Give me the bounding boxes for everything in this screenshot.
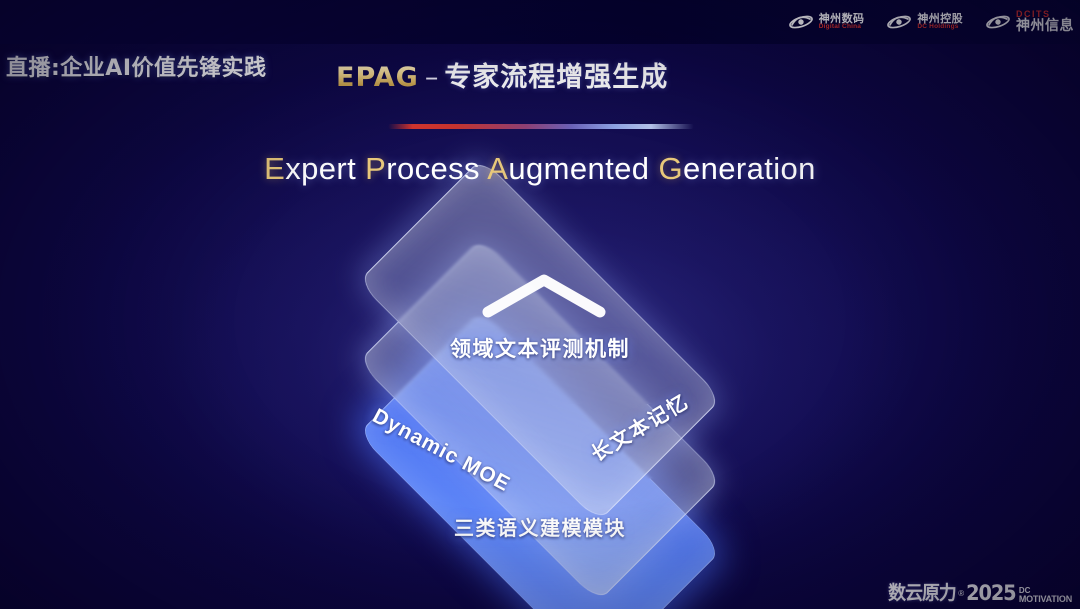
partner-logo-dc-holdings: 神州控股 DC Holdings — [886, 10, 963, 34]
partner-logo-group: 神州数码 Digital China 神州控股 DC Holdings — [788, 5, 1074, 39]
watermark-name-cn: 数云原力 — [888, 578, 956, 605]
partner-name-en: DC Holdings — [917, 24, 963, 31]
watermark-registered-mark: ® — [958, 589, 964, 598]
partner-logo-text: 神州数码 Digital China — [819, 13, 865, 31]
partner-name-en: Digital China — [819, 24, 865, 31]
swirl-icon — [788, 10, 814, 34]
stack-label-bottom: 三类语义建模模块 — [0, 512, 1080, 541]
subtitle-part: rocess — [386, 151, 487, 186]
partner-logo-digital-china: 神州数码 Digital China — [788, 10, 865, 34]
headline-cn: 专家流程增强生成 — [444, 62, 668, 93]
slide-headline: EPAG–专家流程增强生成 — [336, 55, 668, 94]
subtitle-part: P — [365, 151, 386, 186]
chevron-up-icon — [480, 272, 608, 318]
watermark-dc-line2: MOTIVATION — [1019, 595, 1072, 603]
watermark-dc-motivation: DC MOTIVATION — [1019, 587, 1072, 603]
gradient-divider — [388, 124, 694, 129]
partner-name-cn: 神州信息 — [1016, 19, 1074, 33]
subtitle-part: A — [487, 151, 508, 186]
partner-logo-dcits: DCITS 神州信息 — [985, 10, 1074, 34]
subtitle-part: E — [264, 151, 285, 186]
subtitle-part: xpert — [285, 151, 365, 186]
slide-stage: 数云原力®2025 DC MOTIVATION 直播:企业AI价值先锋实践 神州… — [0, 0, 1080, 609]
watermark-year: 2025 — [966, 581, 1015, 605]
partner-logo-text: 神州控股 DC Holdings — [917, 13, 963, 31]
swirl-icon — [985, 10, 1011, 34]
headline-abbr: EPAG — [336, 62, 419, 93]
subtitle-part: G — [658, 151, 683, 186]
footer-watermark-logo: 数云原力®2025 DC MOTIVATION — [886, 578, 1072, 605]
stack-label-top: 领域文本评测机制 — [0, 333, 1080, 363]
slide-subtitle: Expert Process Augmented Generation — [0, 151, 1080, 187]
subtitle-part: ugmented — [508, 151, 658, 186]
subtitle-part: eneration — [683, 151, 816, 186]
swirl-icon — [886, 10, 912, 34]
live-stream-title: 直播:企业AI价值先锋实践 — [6, 50, 267, 82]
partner-logo-text: DCITS 神州信息 — [1016, 10, 1074, 33]
headline-dash: – — [425, 62, 439, 93]
